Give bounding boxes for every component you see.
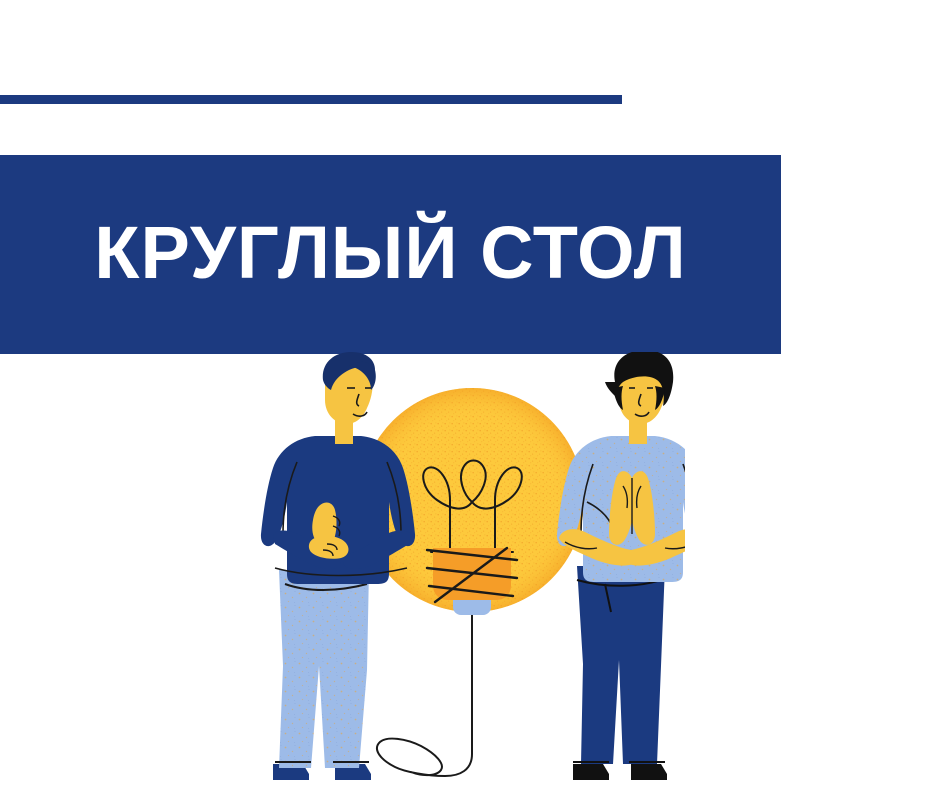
- person-right-shoe-left: [573, 764, 609, 780]
- hanging-cord: [377, 600, 472, 776]
- illustration-two-people-with-lightbulb: [255, 352, 685, 788]
- illustration-svg: [255, 352, 685, 788]
- title-band: КРУГЛЫЙ СТОЛ: [0, 155, 781, 354]
- person-left-pants: [279, 570, 369, 768]
- person-right-pants: [577, 566, 665, 764]
- slide-canvas: КРУГЛЫЙ СТОЛ: [0, 0, 940, 788]
- person-right-shoe-right: [631, 764, 667, 780]
- lightbulb-icon: [360, 388, 584, 776]
- page-title: КРУГЛЫЙ СТОЛ: [94, 216, 686, 294]
- person-right: [557, 352, 685, 780]
- top-accent-rule: [0, 95, 622, 104]
- person-right-hair-left: [613, 386, 623, 410]
